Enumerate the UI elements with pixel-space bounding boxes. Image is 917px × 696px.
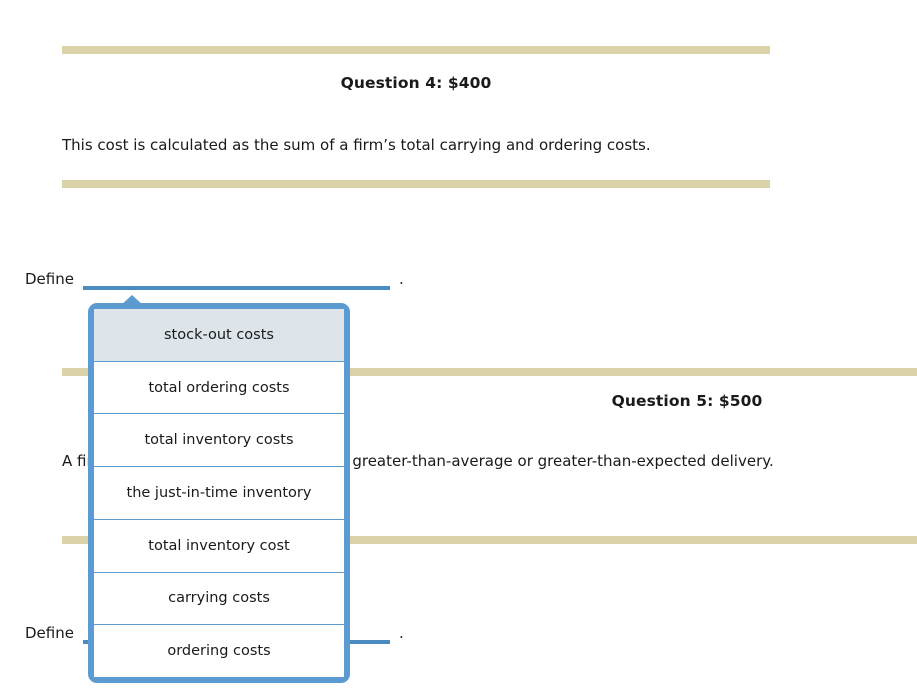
dropdown-option[interactable]: stock-out costs: [94, 309, 344, 362]
answer-select-1[interactable]: [83, 268, 390, 290]
divider-rule-question4-top: [62, 46, 770, 54]
dropdown-option[interactable]: total inventory costs: [94, 414, 344, 467]
dropdown-option[interactable]: total ordering costs: [94, 362, 344, 415]
question4-title: Question 4: $400: [0, 74, 832, 92]
divider-rule-question4-bottom: [62, 180, 770, 188]
dropdown-option[interactable]: the just-in-time inventory: [94, 467, 344, 520]
define-label-2: Define: [25, 624, 74, 642]
dropdown-option[interactable]: ordering costs: [94, 625, 344, 677]
define-period-2: .: [399, 624, 404, 642]
dropdown-pointer-icon: [119, 295, 145, 307]
dropdown-option[interactable]: carrying costs: [94, 573, 344, 626]
define-label-1: Define: [25, 270, 74, 288]
dropdown-option[interactable]: total inventory cost: [94, 520, 344, 573]
question4-body: This cost is calculated as the sum of a …: [62, 126, 651, 164]
define-period-1: .: [399, 270, 404, 288]
answer-dropdown-menu[interactable]: stock-out coststotal ordering coststotal…: [88, 303, 350, 683]
define-row-1: Define .: [25, 268, 404, 290]
dropdown-option-list: stock-out coststotal ordering coststotal…: [94, 309, 344, 677]
